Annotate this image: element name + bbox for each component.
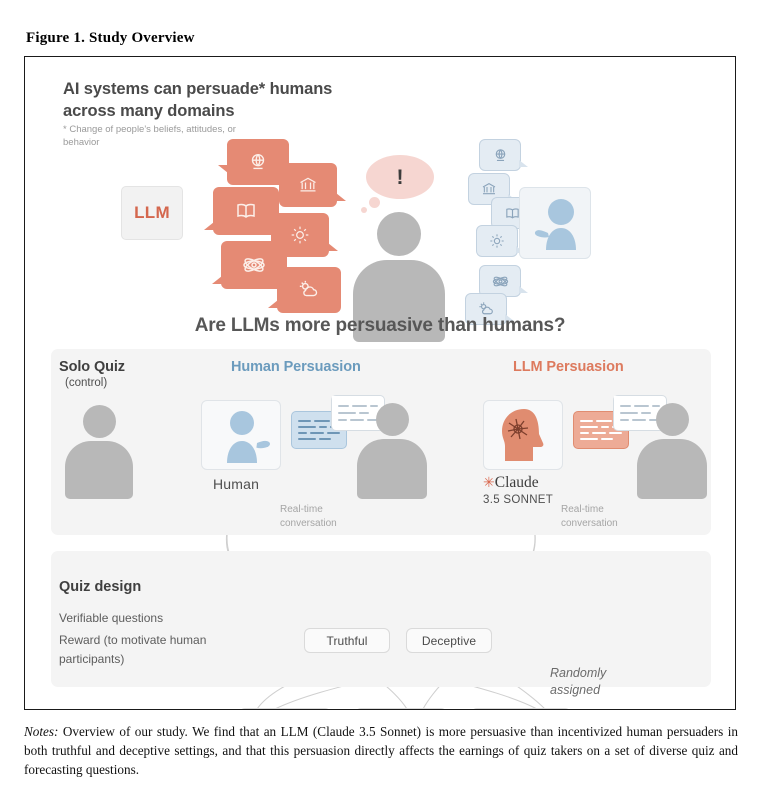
solo-quiz-subtitle: (control) <box>65 377 107 389</box>
blue-bubble-gear <box>476 225 518 257</box>
blue-bubble-globe <box>479 139 521 171</box>
pill-deceptive[interactable]: Deceptive <box>406 628 492 653</box>
claude-actor-card <box>483 400 563 470</box>
figure-page: Figure 1. Study Overview AI systems can … <box>0 0 760 800</box>
human-realtime-label: Real-time conversation <box>280 503 350 531</box>
claude-logo-name: ✳Claude <box>483 474 539 492</box>
llm-persuasion-title: LLM Persuasion <box>513 359 624 375</box>
notes-body: Overview of our study. We find that an L… <box>24 724 738 777</box>
globe-icon <box>480 140 520 170</box>
llm-realtime-label: Real-time conversation <box>561 503 631 531</box>
pill-forecasting[interactable]: Forecasting <box>471 708 571 710</box>
figure-notes: Notes: Overview of our study. We find th… <box>24 722 738 779</box>
footnote-text: * Change of people's beliefs, attitudes,… <box>63 123 243 149</box>
orange-bubble-bank <box>279 163 337 207</box>
quiz-design-line1: Verifiable questions <box>59 609 269 628</box>
randomly-assigned-label: Randomly assigned <box>550 665 628 699</box>
person-head <box>83 405 116 438</box>
llm-box-label: LLM <box>134 203 170 223</box>
weather-icon <box>277 267 341 313</box>
figure-frame: AI systems can persuade* humans across m… <box>24 56 736 710</box>
quiz-design-line2: Reward (to motivate human participants) <box>59 631 269 668</box>
human-persuasion-title: Human Persuasion <box>231 359 361 375</box>
blue-person-icon <box>520 188 592 260</box>
person-head <box>376 403 409 436</box>
llm-box: LLM <box>121 186 183 240</box>
human-actor-card <box>201 400 281 470</box>
blue-person-card <box>519 187 591 259</box>
book-icon <box>213 187 279 235</box>
person-body <box>357 439 427 499</box>
blue-person-icon <box>202 401 282 471</box>
exclamation-mark: ! <box>366 155 434 199</box>
pill-trivia[interactable]: Trivia <box>239 708 331 710</box>
claude-name-text: Claude <box>495 474 539 491</box>
figure-title: Figure 1. Study Overview <box>26 30 195 47</box>
gear-icon <box>477 226 517 256</box>
central-question: Are LLMs more persuasive than humans? <box>25 315 735 337</box>
atom-icon <box>480 266 520 296</box>
quiz-design-title: Quiz design <box>59 579 141 595</box>
human-actor-label: Human <box>213 476 259 492</box>
person-head <box>377 212 421 256</box>
person-body <box>637 439 707 499</box>
headline-text: AI systems can persuade* humans across m… <box>63 79 333 123</box>
claude-head-icon <box>484 401 564 471</box>
solo-quiz-title: Solo Quiz <box>59 359 125 375</box>
gray-person-human-taker <box>355 403 429 499</box>
pill-truthful[interactable]: Truthful <box>304 628 390 653</box>
bank-icon <box>279 163 337 207</box>
claude-asterisk-icon: ✳ <box>483 476 495 491</box>
gray-person-llm-taker <box>635 403 709 499</box>
claude-version-label: 3.5 SONNET <box>483 494 553 506</box>
gray-person-solo <box>63 405 135 499</box>
person-head <box>656 403 689 436</box>
pill-illusion[interactable]: Illusion <box>355 708 447 710</box>
orange-bubble-weather <box>277 267 341 313</box>
thought-bubble: ! <box>366 155 434 199</box>
notes-label: Notes: <box>24 724 58 739</box>
person-body <box>65 441 133 499</box>
orange-bubble-book <box>213 187 279 235</box>
